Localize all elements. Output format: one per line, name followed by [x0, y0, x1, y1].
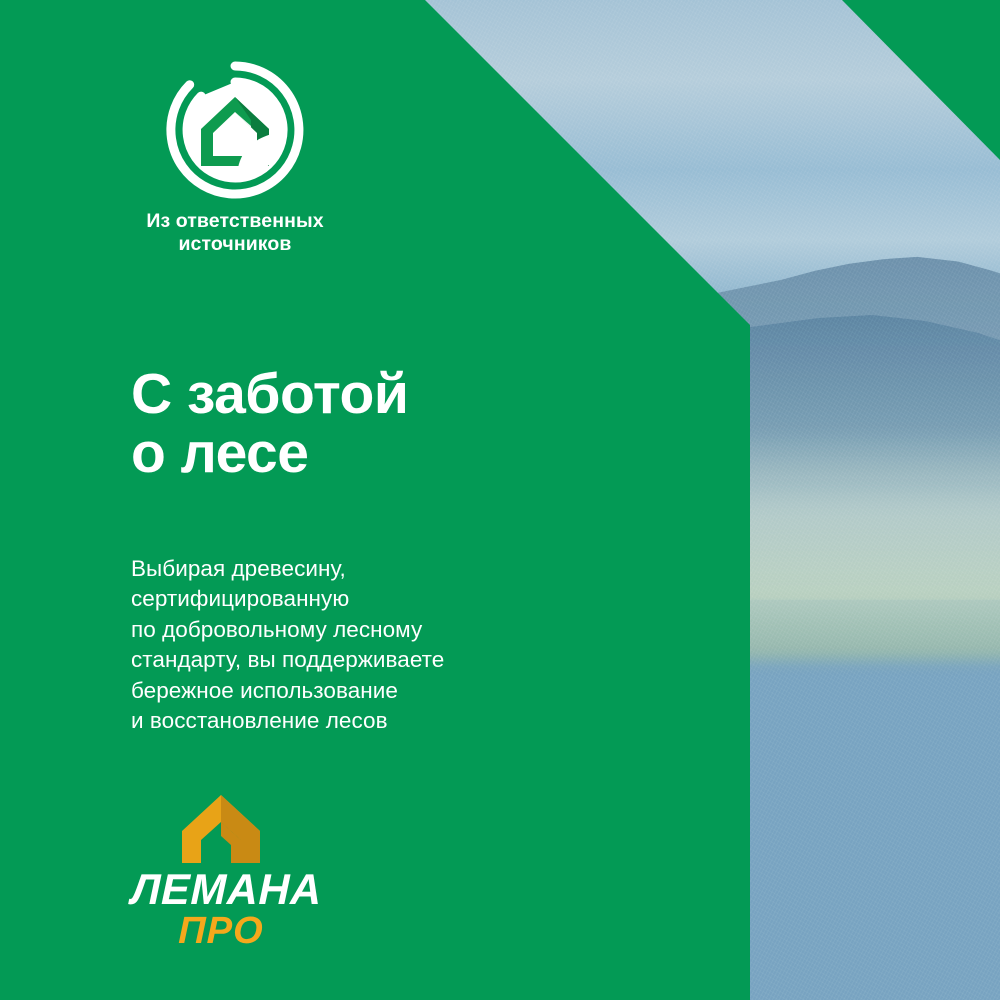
responsible-sources-seal-icon: [165, 60, 305, 200]
lemana-house-icon: [179, 793, 263, 865]
brand-sub: ПРО: [131, 912, 312, 950]
brand-name: ЛЕМАНА: [131, 870, 312, 911]
page-title: С заботой о лесе: [131, 365, 408, 484]
poster: Из ответственных источников С заботой о …: [0, 0, 1000, 1000]
brand-lockup: ЛЕМАНА ПРО: [131, 793, 311, 950]
badge-caption: Из ответственных источников: [130, 210, 340, 256]
body-paragraph: Выбирая древесину, сертифицированную по …: [131, 554, 444, 738]
responsible-sources-badge: Из ответственных источников: [130, 60, 340, 256]
poster-content: Из ответственных источников С заботой о …: [0, 0, 1000, 1000]
